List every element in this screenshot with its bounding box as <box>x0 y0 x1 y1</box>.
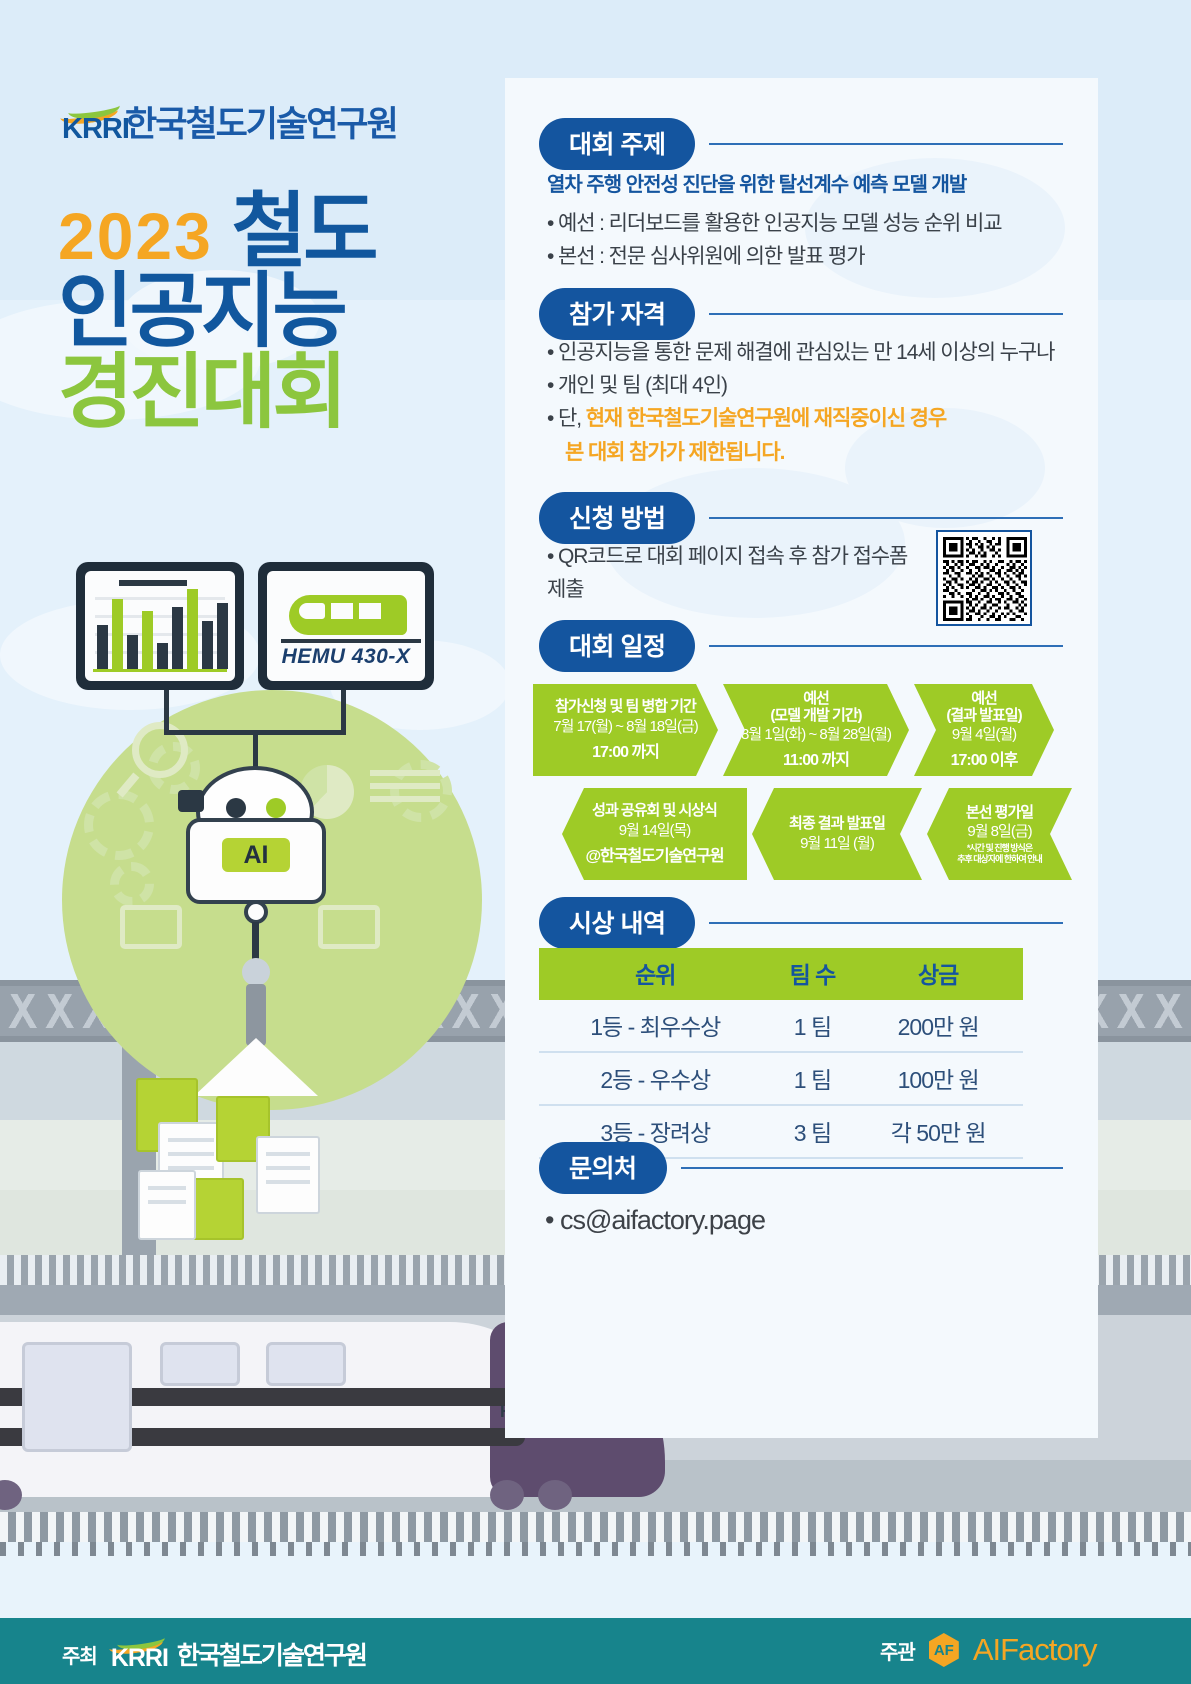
train-icon-window <box>359 603 381 619</box>
chart-bar <box>97 625 108 669</box>
section-rule <box>709 517 1063 519</box>
schedule-step-6-place: @한국철도기술연구원 <box>585 842 723 866</box>
train-illustration-canvas: HEMU 430-X <box>267 571 425 681</box>
eligibility-note-line-2: 본 대회 참가가 제한됩니다. <box>547 436 1067 469</box>
headline-line-1: 2023 철도 <box>58 192 508 272</box>
eligibility-item-2: • 개인 및 팀 (최대 4인) <box>547 369 1067 402</box>
section-title-apply: 신청 방법 <box>539 492 695 544</box>
schedule-step-4-title: 본선 평가일 <box>966 804 1033 821</box>
paper-line <box>266 1152 310 1156</box>
robot-ai-chip: AI <box>222 838 290 872</box>
schedule-row-1: 참가신청 및 팀 병합 기간 7월 17(월) ~ 8월 18일(금) 17:0… <box>533 684 1054 776</box>
section-rule <box>709 645 1063 647</box>
schedule-step-1-title: 참가신청 및 팀 병합 기간 <box>555 698 696 715</box>
footer-host: 주최 KRRI 한국철도기술연구원 <box>62 1636 366 1672</box>
train-icon-window <box>331 603 353 619</box>
aifactory-logo-icon: AF <box>929 1633 959 1667</box>
section-body-apply: • QR코드로 대회 페이지 접속 후 참가 접수폼 제출 <box>547 540 927 606</box>
gear-icon-1 <box>84 790 154 860</box>
eligibility-item-1: • 인공지능을 통한 문제 해결에 관심있는 만 14세 이상의 누구나 <box>547 336 1067 369</box>
schedule-step-1-date: 7월 17(월) ~ 8월 18일(금) <box>553 718 697 736</box>
footer-organizer-label: 주관 <box>880 1636 915 1665</box>
robot-stem <box>252 922 259 962</box>
table-row: 2등 - 우수상 1 팀 100만 원 <box>539 1052 1023 1105</box>
contact-email[interactable]: cs@aifactory.page <box>560 1205 765 1235</box>
chart-bar <box>112 599 123 669</box>
train-window-1 <box>22 1342 132 1452</box>
section-rule <box>681 1167 1063 1169</box>
poster-headline: 2023 철도 인공지능 경진대회 <box>58 192 508 433</box>
chart-bar <box>157 643 168 669</box>
train-icon-window <box>299 603 325 619</box>
schedule-step-3-title: 예선 (결과 발표일) <box>946 690 1021 725</box>
list-icon <box>370 770 440 814</box>
eligibility-item-2-text: 개인 및 팀 (최대 4인) <box>558 374 727 397</box>
topic-item-1-text: 예선 : 리더보드를 활용한 인공지능 모델 성능 순위 비교 <box>558 212 1001 235</box>
apply-item-1: • QR코드로 대회 페이지 접속 후 참가 접수폼 제출 <box>547 540 927 606</box>
headline-year: 2023 <box>58 199 213 273</box>
paper-green-3 <box>192 1178 244 1240</box>
section-body-eligibility: • 인공지능을 통한 문제 해결에 관심있는 만 14세 이상의 누구나 • 개… <box>547 336 1067 469</box>
ballast-strip <box>0 1542 1191 1556</box>
schedule-step-3-time: 17:00 이후 <box>951 746 1018 770</box>
schedule-step-5-date: 9월 11일 (월) <box>800 835 874 853</box>
footer-krri-mark: KRRI <box>111 1639 163 1669</box>
prize-row-1-rank: 1등 - 최우수상 <box>539 1000 772 1052</box>
headline-line-2: 인공지능 <box>58 272 508 352</box>
chart-bar <box>172 607 183 669</box>
headline-line1-rest: 철도 <box>232 186 375 277</box>
train-wheel-2 <box>490 1480 524 1510</box>
paper-line <box>148 1186 186 1190</box>
qr-code-image <box>943 537 1027 621</box>
topic-item-1: • 예선 : 리더보드를 활용한 인공지능 모델 성능 순위 비교 <box>547 207 1067 240</box>
wire-vertical-right <box>341 690 346 734</box>
topic-item-2: • 본선 : 전문 심사위원에 의한 발표 평가 <box>547 240 1067 273</box>
krri-logo-text: KRRI <box>62 113 129 146</box>
topic-lead: 열차 주행 안전성 진단을 위한 탈선계수 예측 모델 개발 <box>547 168 1067 197</box>
section-header-prizes: 시상 내역 <box>539 897 1063 949</box>
section-rule <box>709 313 1063 315</box>
schedule-step-4-note: *시간 및 진행 방식은 추후 대상자에 한하여 안내 <box>957 843 1042 864</box>
footer-host-label: 주최 <box>62 1640 97 1669</box>
section-header-contact: 문의처 <box>539 1142 1063 1194</box>
prize-table-header-row: 순위 팀 수 상금 <box>539 948 1023 1000</box>
chart-bar <box>187 589 198 669</box>
footer-host-name: 한국철도기술연구원 <box>177 1636 366 1672</box>
schedule-step-2: 예선 (모델 개발 기간) 8월 1일(화) ~ 8월 28일(월) 11:00… <box>723 684 909 776</box>
paper-2 <box>256 1136 320 1214</box>
folder-icon-right <box>318 905 380 949</box>
schedule-step-3: 예선 (결과 발표일) 9월 4일(월) 17:00 이후 <box>914 684 1054 776</box>
train-wheel-3 <box>538 1480 572 1510</box>
prize-col-rank: 순위 <box>539 948 772 1000</box>
section-rule <box>709 143 1063 145</box>
contact-email-line[interactable]: • cs@aifactory.page <box>545 1205 765 1236</box>
schedule-step-5: 최종 결과 발표일 9월 11일 (월) <box>752 788 922 880</box>
krri-logo: KRRI 한국철도기술연구원 <box>62 96 397 147</box>
robot-neck <box>244 900 268 924</box>
paper-line <box>266 1180 310 1184</box>
train-window-3 <box>266 1342 346 1386</box>
section-title-contact: 문의처 <box>539 1142 667 1194</box>
section-title-prizes: 시상 내역 <box>539 897 695 949</box>
section-header-eligibility: 참가 자격 <box>539 288 1063 340</box>
schedule-step-6-date: 9월 14일(목) <box>619 822 691 840</box>
eligibility-note-highlight-1: 현재 한국철도기술연구원에 재직중이신 경우 <box>586 407 946 430</box>
apply-item-1-text: QR코드로 대회 페이지 접속 후 참가 접수폼 제출 <box>547 545 907 601</box>
schedule-step-5-title: 최종 결과 발표일 <box>789 815 885 832</box>
prize-row-1-teams: 1 팀 <box>772 1000 854 1052</box>
footer-krri-mark-text: KRRI <box>111 1644 168 1673</box>
eligibility-note-line-1: • 단, 현재 한국철도기술연구원에 재직중이신 경우 <box>547 402 1067 435</box>
prize-row-2-teams: 1 팀 <box>772 1052 854 1105</box>
schedule-step-2-title: 예선 (모델 개발 기간) <box>770 690 861 725</box>
train-window-2 <box>160 1342 240 1386</box>
topic-item-2-text: 본선 : 전문 심사위원에 의한 발표 평가 <box>558 245 864 268</box>
poster-root: HEMU 430-X AI KRRI 한국철도 <box>0 0 1191 1684</box>
schedule-step-6: 성과 공유회 및 시상식 9월 14일(목) @한국철도기술연구원 <box>562 788 747 880</box>
wire-vertical-left <box>164 690 169 734</box>
schedule-step-4-date: 9월 8일(금) <box>967 823 1031 841</box>
schedule-step-2-date: 8월 1일(화) ~ 8월 28일(월) <box>741 726 891 744</box>
train-illustration-screen: HEMU 430-X <box>258 562 434 690</box>
krri-logo-name: 한국철도기술연구원 <box>125 96 397 147</box>
table-row: 1등 - 최우수상 1 팀 200만 원 <box>539 1000 1023 1052</box>
train-board-label: HEMU 430-X <box>267 645 425 669</box>
footer-organizer-name: AIFactory <box>973 1632 1097 1668</box>
schedule-row-2: 성과 공유회 및 시상식 9월 14일(목) @한국철도기술연구원 최종 결과 … <box>562 788 1072 880</box>
folder-icon-left <box>120 905 182 949</box>
krri-logo-mark: KRRI <box>62 105 116 139</box>
section-header-schedule: 대회 일정 <box>539 620 1063 672</box>
section-rule <box>709 922 1063 924</box>
bar-chart-screen <box>76 562 244 690</box>
schedule-step-2-time: 11:00 까지 <box>783 746 849 770</box>
prize-col-teams: 팀 수 <box>772 948 854 1000</box>
section-header-topic: 대회 주제 <box>539 118 1063 170</box>
chart-bar <box>217 603 228 669</box>
bar-chart-canvas <box>85 571 235 681</box>
qr-code[interactable] <box>936 530 1032 626</box>
headline-line-3: 경진대회 <box>58 353 508 433</box>
sleeper-strip <box>0 1512 1191 1542</box>
prize-col-money: 상금 <box>853 948 1023 1000</box>
lamp-icon <box>194 1038 318 1096</box>
section-body-topic: 열차 주행 안전성 진단을 위한 탈선계수 예측 모델 개발 • 예선 : 리더… <box>547 168 1067 273</box>
prize-row-2-money: 100만 원 <box>853 1052 1023 1105</box>
paper-line <box>168 1138 214 1142</box>
prize-row-1-money: 200만 원 <box>853 1000 1023 1052</box>
section-title-schedule: 대회 일정 <box>539 620 695 672</box>
schedule-step-4: 본선 평가일 9월 8일(금) *시간 및 진행 방식은 추후 대상자에 한하여… <box>927 788 1072 880</box>
paper-line <box>266 1166 310 1170</box>
gear-icon-4 <box>110 862 154 906</box>
robot-eye-left <box>226 798 246 818</box>
robot-joint <box>242 958 270 986</box>
paper-line <box>148 1200 186 1204</box>
schedule-step-1: 참가신청 및 팀 병합 기간 7월 17(월) ~ 8월 18일(금) 17:0… <box>533 684 718 776</box>
schedule-step-3-date: 9월 4일(월) <box>952 726 1016 744</box>
chart-bar <box>127 635 138 669</box>
eligibility-note-prefix: 단, <box>558 407 586 430</box>
paper-3 <box>138 1170 196 1240</box>
prize-table: 순위 팀 수 상금 1등 - 최우수상 1 팀 200만 원 2등 - 우수상 … <box>539 948 1023 1159</box>
eligibility-item-1-text: 인공지능을 통한 문제 해결에 관심있는 만 14세 이상의 누구나 <box>558 341 1054 364</box>
chart-bar <box>142 611 153 669</box>
robot-antenna <box>178 790 204 812</box>
paper-line <box>168 1152 214 1156</box>
schedule-step-6-title: 성과 공유회 및 시상식 <box>592 802 717 819</box>
robot-pole <box>246 984 266 1046</box>
wire-to-robot <box>253 730 258 768</box>
section-title-topic: 대회 주제 <box>539 118 695 170</box>
prize-row-2-rank: 2등 - 우수상 <box>539 1052 772 1105</box>
eligibility-note-highlight-2: 본 대회 참가가 제한됩니다. <box>565 441 784 464</box>
train-icon-rail <box>281 639 421 643</box>
schedule-step-1-time: 17:00 까지 <box>592 738 659 762</box>
section-title-eligibility: 참가 자격 <box>539 288 695 340</box>
chart-bar <box>202 621 213 669</box>
footer-organizer: 주관 AF AIFactory <box>880 1632 1096 1668</box>
robot-eye-right <box>266 798 286 818</box>
